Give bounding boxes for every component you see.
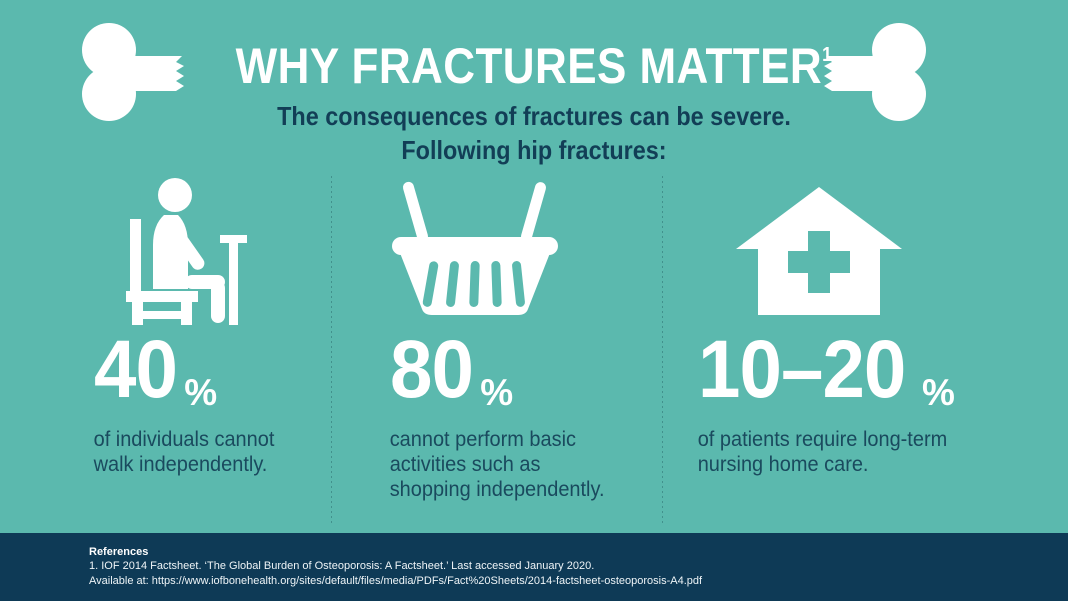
desc-line-3: shopping independently. [390, 477, 669, 502]
shopping-basket-icon [384, 175, 686, 325]
stat-number: 80 [390, 329, 473, 411]
header: WHY FRACTURES MATTER1 The consequences o… [0, 0, 1068, 175]
page-title-text: WHY FRACTURES MATTER [236, 38, 822, 94]
page-title: WHY FRACTURES MATTER1 [236, 26, 832, 95]
desc-line-1: of individuals cannot [94, 427, 371, 452]
stat-value-nursing-home: 10–20% [692, 325, 992, 411]
footer-references: References 1. IOF 2014 Factsheet. ‘The G… [0, 533, 1068, 601]
reference-available-at[interactable]: Available at: https://www.iofbonehealth.… [89, 574, 1068, 589]
stat-description-nursing-home: of patients require long-term nursing ho… [692, 427, 977, 477]
stat-column-walking: 40% of individuals cannot walk independe… [86, 175, 386, 533]
stat-number: 40 [94, 329, 177, 411]
stat-column-nursing-home: 10–20% of patients require long-term nur… [692, 175, 992, 533]
stats-row: 40% of individuals cannot walk independe… [0, 175, 1068, 533]
stat-description-walking: of individuals cannot walk independently… [86, 427, 371, 477]
broken-bone-right-icon [808, 22, 930, 122]
stat-percent-sign: % [922, 374, 955, 411]
stat-percent-sign: % [480, 374, 513, 411]
footer-inner: References 1. IOF 2014 Factsheet. ‘The G… [0, 533, 1068, 589]
desc-line-2: activities such as [390, 452, 669, 477]
desc-line-1: of patients require long-term [698, 427, 977, 452]
stat-value-walking: 40% [86, 325, 386, 411]
stat-description-shopping: cannot perform basic activities such as … [384, 427, 669, 502]
reference-item-1: 1. IOF 2014 Factsheet. ‘The Global Burde… [89, 559, 1068, 574]
stat-number: 10–20 [698, 329, 905, 411]
desc-line-2: walk independently. [94, 452, 371, 477]
nursing-home-icon [692, 175, 1034, 325]
desc-line-2: nursing home care. [698, 452, 977, 477]
stat-percent-sign: % [184, 374, 217, 411]
references-heading: References [89, 545, 1068, 559]
broken-bone-left-icon [78, 22, 200, 122]
infographic-root: WHY FRACTURES MATTER1 The consequences o… [0, 0, 1068, 601]
desc-line-1: cannot perform basic [390, 427, 669, 452]
stat-column-shopping: 80% cannot perform basic activities such… [384, 175, 684, 533]
seated-person-with-cane-icon [86, 175, 408, 325]
stat-value-shopping: 80% [384, 325, 684, 411]
subtitle-line-2: Following hip fractures: [53, 133, 1014, 167]
